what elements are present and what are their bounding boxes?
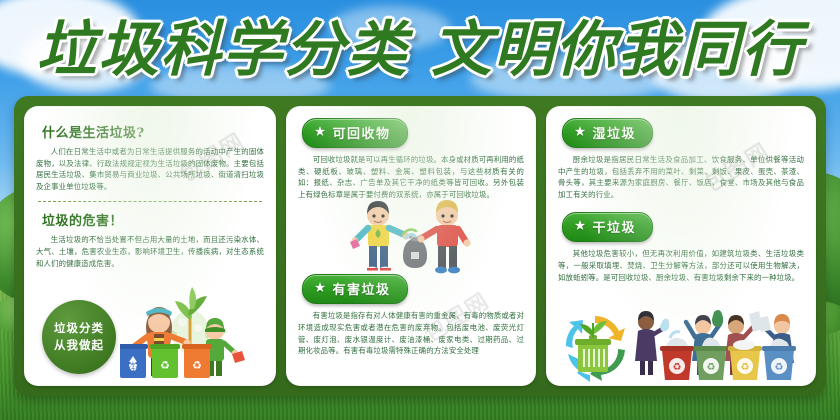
illustration-two-boys-trash-bag	[348, 198, 478, 282]
svg-text:♻: ♻	[129, 364, 137, 374]
title-band: 垃圾科学分类 文明你我同行	[0, 0, 840, 96]
slogan-line-2: 从我做起	[54, 337, 104, 354]
illustration-sorting-three-bins: ♻ ♻ ♻ ♻	[120, 276, 270, 382]
illustration-four-people-four-bins: ♻	[630, 306, 800, 384]
star-icon: ★	[315, 128, 327, 138]
content-board: 什么是生活垃圾? 人们在日常生活中或者为日常生活提供服务的活动中产生的固体废物，…	[14, 96, 826, 396]
illustration-recycle-arrows-bin	[556, 310, 634, 382]
pill-wet-waste-label: 湿垃圾	[593, 123, 637, 142]
pill-dry-waste-label: 干垃圾	[593, 217, 637, 236]
section-recyclable: ★ 可回收物 可回收垃圾就是可以再生循环的垃圾。本身或材质可再利用的纸类、硬纸板…	[298, 116, 524, 200]
heading-waste-hazards: 垃圾的危害！	[42, 210, 264, 229]
panel-wet-and-dry: ★ 湿垃圾 厨余垃圾是指居民日常生活及食品加工、饮食服务、单位供餐等活动中产生的…	[546, 106, 816, 386]
svg-text:♻: ♻	[741, 362, 750, 373]
svg-text:♻: ♻	[128, 359, 138, 372]
pill-hazardous-label: 有害垃圾	[333, 279, 391, 298]
star-icon: ★	[315, 284, 327, 294]
pill-wet-waste: ★ 湿垃圾	[562, 118, 653, 148]
svg-text:♻: ♻	[160, 359, 170, 372]
section-dry-waste: ★ 干垃圾 其他垃圾危害较小，但无再次利用价值，如建筑垃圾类、生活垃圾类等，一般…	[558, 210, 804, 283]
pill-dry-waste: ★ 干垃圾	[562, 212, 653, 242]
pill-hazardous: ★ 有害垃圾	[302, 274, 408, 304]
divider	[38, 201, 262, 202]
svg-text:♻: ♻	[775, 362, 784, 373]
pill-recyclable-label: 可回收物	[333, 123, 391, 142]
svg-text:♻: ♻	[707, 362, 716, 373]
heading-what-is-household-waste: 什么是生活垃圾?	[42, 122, 264, 141]
star-icon: ★	[575, 128, 587, 138]
svg-text:♻: ♻	[192, 359, 202, 372]
text-recyclable: 可回收垃圾就是可以再生循环的垃圾。本身或材质可再利用的纸类、硬纸板、玻璃、塑料、…	[298, 154, 524, 200]
page-title: 垃圾科学分类 文明你我同行	[0, 14, 840, 86]
slogan-line-1: 垃圾分类	[54, 320, 104, 337]
star-icon: ★	[575, 222, 587, 232]
section-wet-waste: ★ 湿垃圾 厨余垃圾是指居民日常生活及食品加工、饮食服务、单位供餐等活动中产生的…	[558, 116, 804, 200]
svg-text:♻: ♻	[673, 362, 682, 373]
text-wet-waste: 厨余垃圾是指居民日常生活及食品加工、饮食服务、单位供餐等活动中产生的垃圾，包括丢…	[558, 154, 804, 200]
text-what-is-household-waste: 人们在日常生活中或者为日常生活提供服务的活动中产生的固体废物，以及法律、行政法规…	[36, 146, 264, 192]
text-hazardous: 有害垃圾是指存有对人体健康有害的重金属、有毒的物质或者对环境造成现实危害或者潜在…	[298, 310, 524, 356]
text-dry-waste: 其他垃圾危害较小，但无再次利用价值，如建筑垃圾类、生活垃圾类等，一般采取填埋、焚…	[558, 248, 804, 283]
panel-definition: 什么是生活垃圾? 人们在日常生活中或者为日常生活提供服务的活动中产生的固体废物，…	[24, 106, 276, 386]
panel-recyclable-and-hazardous: ★ 可回收物 可回收垃圾就是可以再生循环的垃圾。本身或材质可再利用的纸类、硬纸板…	[286, 106, 536, 386]
text-waste-hazards: 生活垃圾的不恰当处置不但占用大量的土地，而且还污染水体、大气、土壤，危害农业生态…	[36, 234, 264, 269]
poster-root: 垃圾科学分类 文明你我同行 什么是生活垃圾? 人们在日常生活中或者为日常生活提供…	[0, 0, 840, 420]
slogan-badge: 垃圾分类 从我做起	[42, 300, 116, 374]
section-hazardous: ★ 有害垃圾 有害垃圾是指存有对人体健康有害的重金属、有毒的物质或者对环境造成现…	[298, 272, 524, 356]
pill-recyclable: ★ 可回收物	[302, 118, 408, 148]
